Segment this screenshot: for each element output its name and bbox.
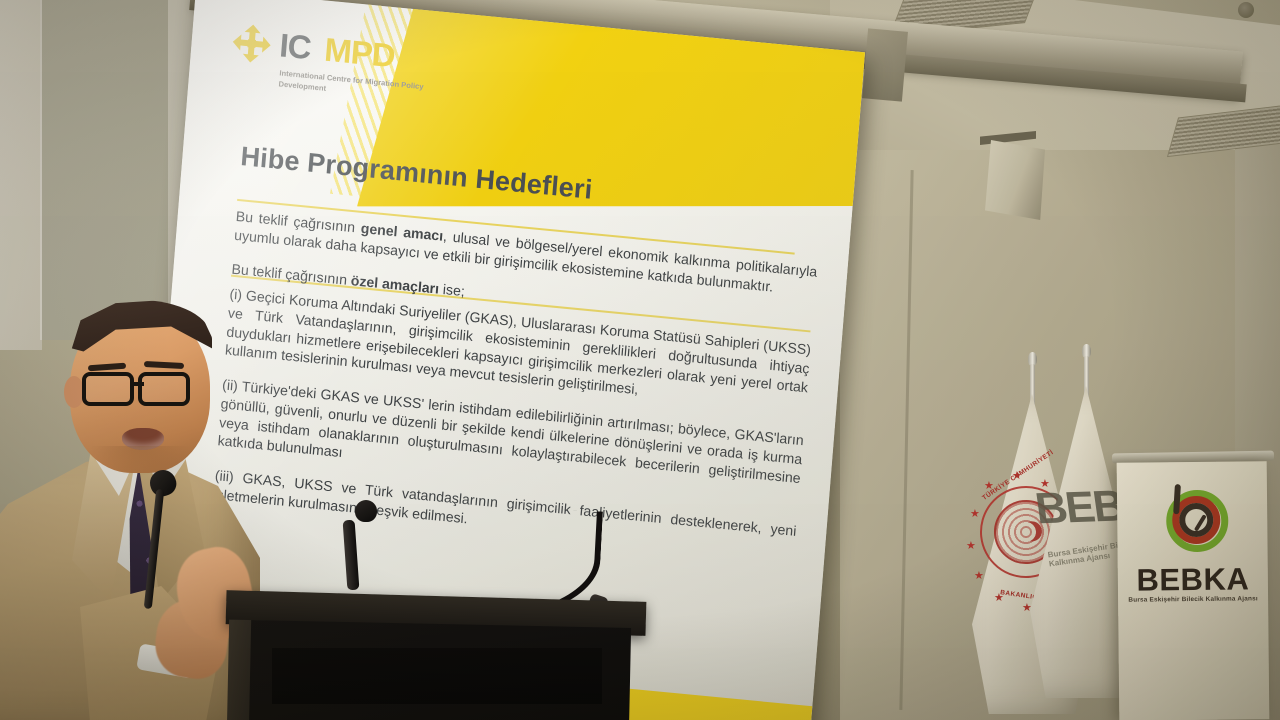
sprinkler-head-icon	[1238, 2, 1254, 18]
chin-shadow	[90, 446, 190, 476]
logo-text-mpd: MPD	[323, 31, 396, 76]
star-icon: ★	[966, 542, 975, 551]
wall-panel-left-a	[0, 0, 42, 350]
logo-subtitle: International Centre for Migration Polic…	[278, 67, 429, 103]
star-icon: ★	[974, 572, 983, 581]
bebka-wordmark: BEBKA	[1118, 561, 1268, 599]
para-lead: Bu teklif çağrısının	[231, 261, 352, 288]
glasses-icon	[138, 372, 190, 406]
para-bold: özel amaçları	[350, 273, 439, 297]
para-rest: ise;	[438, 281, 465, 299]
glasses-icon	[82, 372, 134, 406]
icmpd-logo: IC MPD International Centre for Migratio…	[223, 15, 429, 124]
glasses-bridge	[132, 382, 144, 386]
wall-speaker-icon	[985, 140, 1045, 220]
bebka-tagline: Bursa Eskişehir Bilecik Kalkınma Ajansı	[1118, 595, 1268, 604]
logo-ring-dark	[1179, 503, 1213, 537]
bebka-rollup-banner: BEBKA Bursa Eskişehir Bilecik Kalkınma A…	[1117, 461, 1270, 720]
logo-text-ic: IC	[278, 26, 312, 67]
four-arrow-icon	[230, 22, 273, 66]
projector-screen-end-cap	[862, 28, 908, 101]
bebka-spiral-logo-icon	[1162, 484, 1233, 555]
conference-photo-scene: IC MPD International Centre for Migratio…	[0, 0, 1280, 720]
ear	[64, 376, 84, 408]
podium-shelf	[272, 648, 602, 704]
wall-panel-left-b	[40, 0, 170, 340]
star-icon: ★	[970, 510, 979, 519]
